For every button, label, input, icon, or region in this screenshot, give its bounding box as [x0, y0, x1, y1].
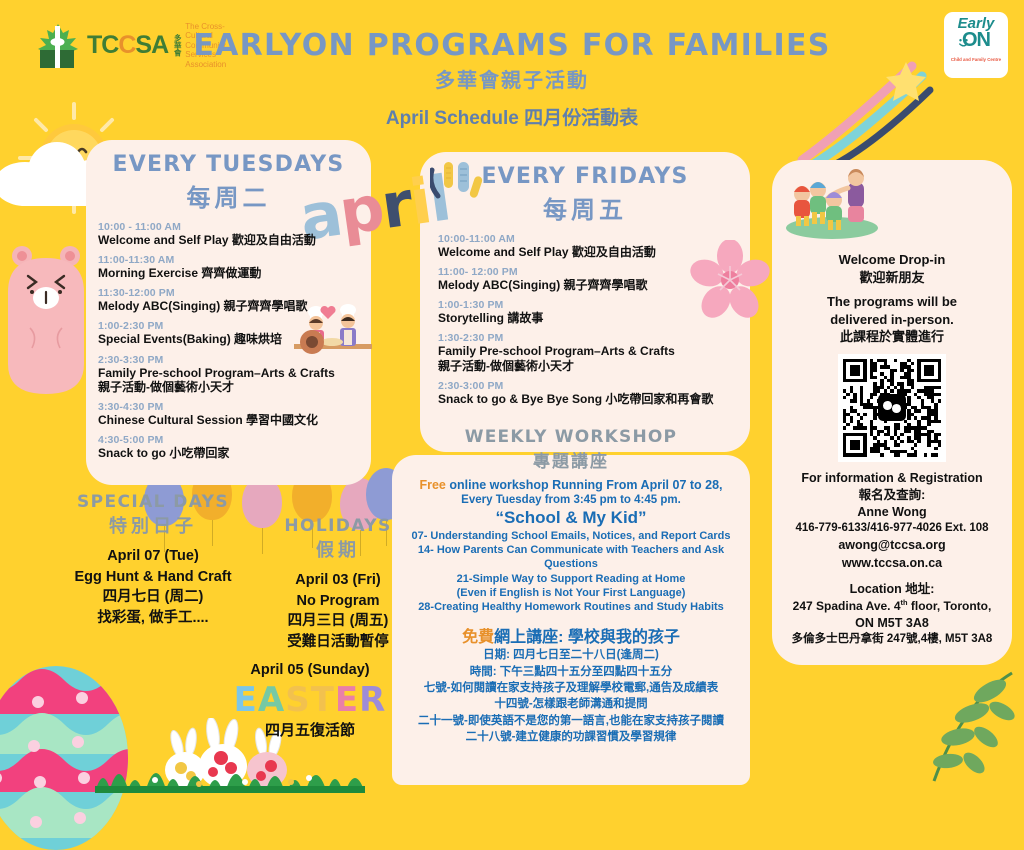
holidays-title-cn: 假期	[248, 536, 428, 562]
registration-block: For information & Registration 報名及查詢: An…	[772, 470, 1012, 648]
workshop-cn-title-rest: 網上講座: 學校與我的孩子	[494, 629, 680, 646]
registration-label-en: For information & Registration	[780, 470, 1004, 487]
location-label: Location 地址:	[780, 581, 1004, 598]
leaf-branch-decoration	[866, 665, 1016, 785]
contact-phone[interactable]: 416-779-6133/416-977-4026 Ext. 108	[780, 521, 1004, 537]
workshop-free-badge-cn: 免費	[462, 629, 494, 646]
workshop-item: 28-Creating Healthy Homework Routines an…	[400, 600, 742, 614]
address-cn: 多倫多士巴丹拿街 247號,4樓, M5T 3A8	[780, 632, 1004, 648]
workshop-time: Every Tuesday from 3:45 pm to 4:45 pm.	[400, 494, 742, 506]
workshop-cn-line: 時間: 下午三點四十五分至四點四十五分	[400, 664, 742, 680]
easter-word-art: EASTER	[205, 683, 415, 717]
workshop-cn-line: 二十一號-即使英語不是您的第一語言,也能在家支持孩子閱讀	[400, 713, 742, 729]
holidays-lines: April 03 (Fri)No Program四月三日 (周五)受難日活動暫停	[248, 570, 428, 652]
info-line: 四月三日 (周五)	[248, 611, 428, 632]
registration-label-cn: 報名及查詢:	[780, 487, 1004, 504]
schedule-slot: 2:30-3:00 PMSnack to go & Bye Bye Song 小…	[438, 380, 750, 406]
schedule-slot: 1:30-2:30 PMFamily Pre-school Program–Ar…	[438, 332, 750, 372]
workshop-item-list: 07- Understanding School Emails, Notices…	[400, 529, 742, 615]
workshop-title-cn: 專題講座	[392, 447, 750, 472]
workshop-title-en: WEEKLY WORKSHOP	[392, 427, 750, 447]
address-line-1: 247 Spadina Ave. 4th floor, Toronto,	[780, 598, 1004, 615]
info-line: 受難日活動暫停	[248, 632, 428, 653]
slot-time: 1:30-2:30 PM	[438, 332, 750, 344]
info-card: Welcome Drop-in 歡迎新朋友 The programs will …	[772, 160, 1012, 665]
slot-program: Morning Exercise 齊齊做運動	[98, 266, 371, 280]
slot-time: 4:30-5:00 PM	[98, 434, 371, 446]
schedule-slot: 11:00-11:30 AMMorning Exercise 齊齊做運動	[98, 254, 371, 280]
address-line-2: ON M5T 3A8	[780, 615, 1004, 632]
slot-program: Family Pre-school Program–Arts & Crafts親…	[438, 344, 750, 372]
contact-email[interactable]: awong@tccsa.org	[780, 537, 1004, 554]
slot-time: 11:00-11:30 AM	[98, 254, 371, 266]
bear-illustration	[2, 232, 90, 397]
welcome-block: Welcome Drop-in 歡迎新朋友 The programs will …	[772, 251, 1012, 346]
easter-cn: 四月五復活節	[205, 719, 415, 740]
workshop-topic: “School & My Kid”	[400, 508, 742, 528]
contact-website[interactable]: www.tccsa.on.ca	[780, 555, 1004, 572]
easter-egg-illustration	[0, 650, 156, 850]
delivery-note-en-1: The programs will be	[780, 293, 1004, 311]
workshop-cn-line: 七號-如何閱讀在家支持孩子及理解學校電郵,通告及成績表	[400, 680, 742, 696]
slot-time: 3:30-4:30 PM	[98, 401, 371, 413]
page-title: EARLYON PROGRAMS FOR FAMILIES	[0, 28, 1024, 63]
schedule-slot: 10:00 - 11:00 AMWelcome and Self Play 歡迎…	[98, 221, 371, 247]
slot-time: 2:30-3:00 PM	[438, 380, 750, 392]
delivery-note-en-2: delivered in-person.	[780, 311, 1004, 329]
info-line: April 03 (Fri)	[248, 570, 428, 591]
workshop-cn-line: 十四號-怎樣跟老師溝通和提問	[400, 696, 742, 712]
info-line: 四月七日 (周二)	[38, 587, 268, 608]
workshop-item: 07- Understanding School Emails, Notices…	[400, 529, 742, 543]
schedule-slot: 2:30-3:30 PMFamily Pre-school Program–Ar…	[98, 354, 371, 394]
slot-program: Welcome and Self Play 歡迎及自由活動	[98, 233, 371, 247]
workshop-title-cn-full: 免費網上講座: 學校與我的孩子	[400, 623, 742, 647]
address-floor-sup: th	[901, 598, 908, 607]
welcome-drop-in-en: Welcome Drop-in	[780, 251, 1004, 269]
cherry-blossom-icon	[690, 240, 770, 320]
page-title-chinese: 多華會親子活動	[0, 64, 1024, 93]
slot-program: Family Pre-school Program–Arts & Crafts親…	[98, 366, 371, 394]
address-city: floor, Toronto,	[908, 599, 992, 613]
info-line: April 07 (Tue)	[38, 546, 268, 567]
easter-section: April 05 (Sunday) EASTER 四月五復活節	[205, 660, 415, 740]
poster-canvas: TCCSA 多華會 The Cross-Cultural Community S…	[0, 0, 1024, 791]
holidays-title-en: HOLIDAYS	[248, 516, 428, 536]
workshop-item: 21-Simple Way to Support Reading at Home	[400, 572, 742, 586]
slot-program: Snack to go & Bye Bye Song 小吃帶回家和再會歌	[438, 392, 750, 406]
special-days-lines: April 07 (Tue)Egg Hunt & Hand Craft四月七日 …	[38, 546, 268, 628]
easter-date: April 05 (Sunday)	[205, 660, 415, 681]
holidays-section: HOLIDAYS 假期 April 03 (Fri)No Program四月三日…	[248, 516, 428, 652]
schedule-subtitle: April Schedule 四月份活動表	[0, 103, 1024, 130]
workshop-cn-line: 二十八號-建立健康的功課習慣及學習規律	[400, 729, 742, 745]
address-street: 247 Spadina Ave. 4	[793, 599, 901, 613]
slot-program: Chinese Cultural Session 學習中國文化	[98, 413, 371, 427]
workshop-body: Free online workshop Running From April …	[392, 472, 750, 745]
slot-time: 10:00 - 11:00 AM	[98, 221, 371, 233]
heart-icon	[320, 305, 336, 320]
delivery-note-cn: 此課程於實體進行	[780, 328, 1004, 346]
workshop-intro: Free online workshop Running From April …	[400, 478, 742, 494]
workshop-header: WEEKLY WORKSHOP 專題講座	[392, 427, 750, 472]
info-line: Egg Hunt & Hand Craft	[38, 567, 268, 588]
teacher-and-children-illustration	[772, 168, 892, 240]
info-line: No Program	[248, 591, 428, 612]
workshop-intro-rest: online workshop Running From April 07 to…	[446, 478, 723, 492]
donut-icon	[300, 330, 324, 354]
workshop-free-badge: Free	[419, 478, 445, 492]
crayons-icon	[430, 160, 490, 205]
info-line: 找彩蛋, 做手工....	[38, 608, 268, 629]
slot-time: 11:30-12:00 PM	[98, 287, 371, 299]
schedule-slot: 3:30-4:30 PMChinese Cultural Session 學習中…	[98, 401, 371, 427]
workshop-cn-line: 日期: 四月七日至二十八日(逢周二)	[400, 647, 742, 663]
special-days-title-cn: 特別日子	[38, 512, 268, 538]
special-days-title-en: SPECIAL DAYS	[38, 492, 268, 512]
workshop-item: 14- How Parents Can Communicate with Tea…	[400, 543, 742, 572]
workshop-cn-line-list: 日期: 四月七日至二十八日(逢周二)時間: 下午三點四十五分至四點四十五分七號-…	[400, 647, 742, 745]
workshop-item: (Even if English is Not Your First Langu…	[400, 586, 742, 600]
slot-program: Snack to go 小吃帶回家	[98, 446, 371, 460]
welcome-drop-in-cn: 歡迎新朋友	[780, 269, 1004, 287]
schedule-slot: 4:30-5:00 PMSnack to go 小吃帶回家	[98, 434, 371, 460]
tuesday-title-en: EVERY TUESDAYS	[86, 152, 371, 177]
wechat-qr-code[interactable]	[838, 354, 946, 462]
weekly-workshop-card: WEEKLY WORKSHOP 專題講座 Free online worksho…	[392, 455, 750, 785]
contact-name: Anne Wong	[780, 504, 1004, 521]
special-days-section: SPECIAL DAYS 特別日子 April 07 (Tue)Egg Hunt…	[38, 492, 268, 628]
